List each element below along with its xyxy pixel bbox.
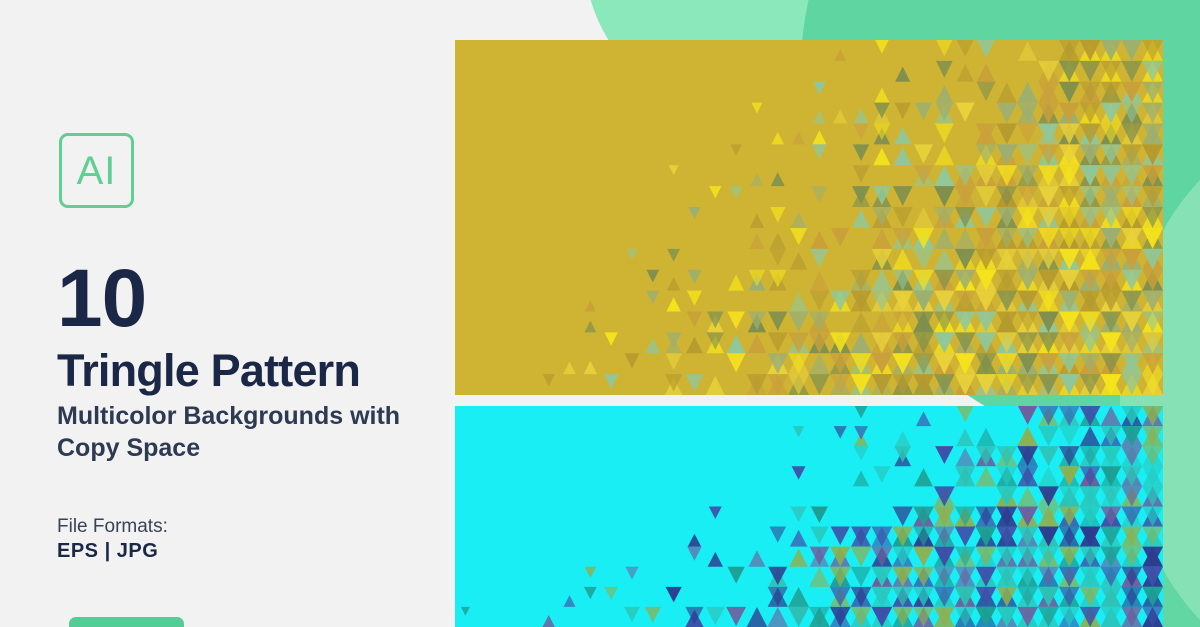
page-subtitle: Multicolor Backgrounds with Copy Space [57, 400, 447, 464]
preview-image-cyan[interactable] [455, 406, 1163, 627]
file-formats-value: EPS | JPG [57, 540, 158, 563]
info-panel: AI 10 Tringle Pattern Multicolor Backgro… [0, 0, 455, 627]
preview-image-gold[interactable] [455, 40, 1163, 395]
file-formats-label: File Formats: [57, 516, 168, 538]
preview-banner: AI 10 Tringle Pattern Multicolor Backgro… [0, 0, 1200, 627]
triangle-pattern-cyan [455, 406, 1163, 627]
triangle-pattern-gold [455, 40, 1163, 395]
ai-badge-label: AI [77, 151, 117, 191]
page-title: Tringle Pattern [57, 348, 360, 393]
headline-count: 10 [57, 258, 146, 340]
ai-format-icon: AI [59, 133, 134, 208]
cta-button[interactable] [69, 617, 184, 627]
